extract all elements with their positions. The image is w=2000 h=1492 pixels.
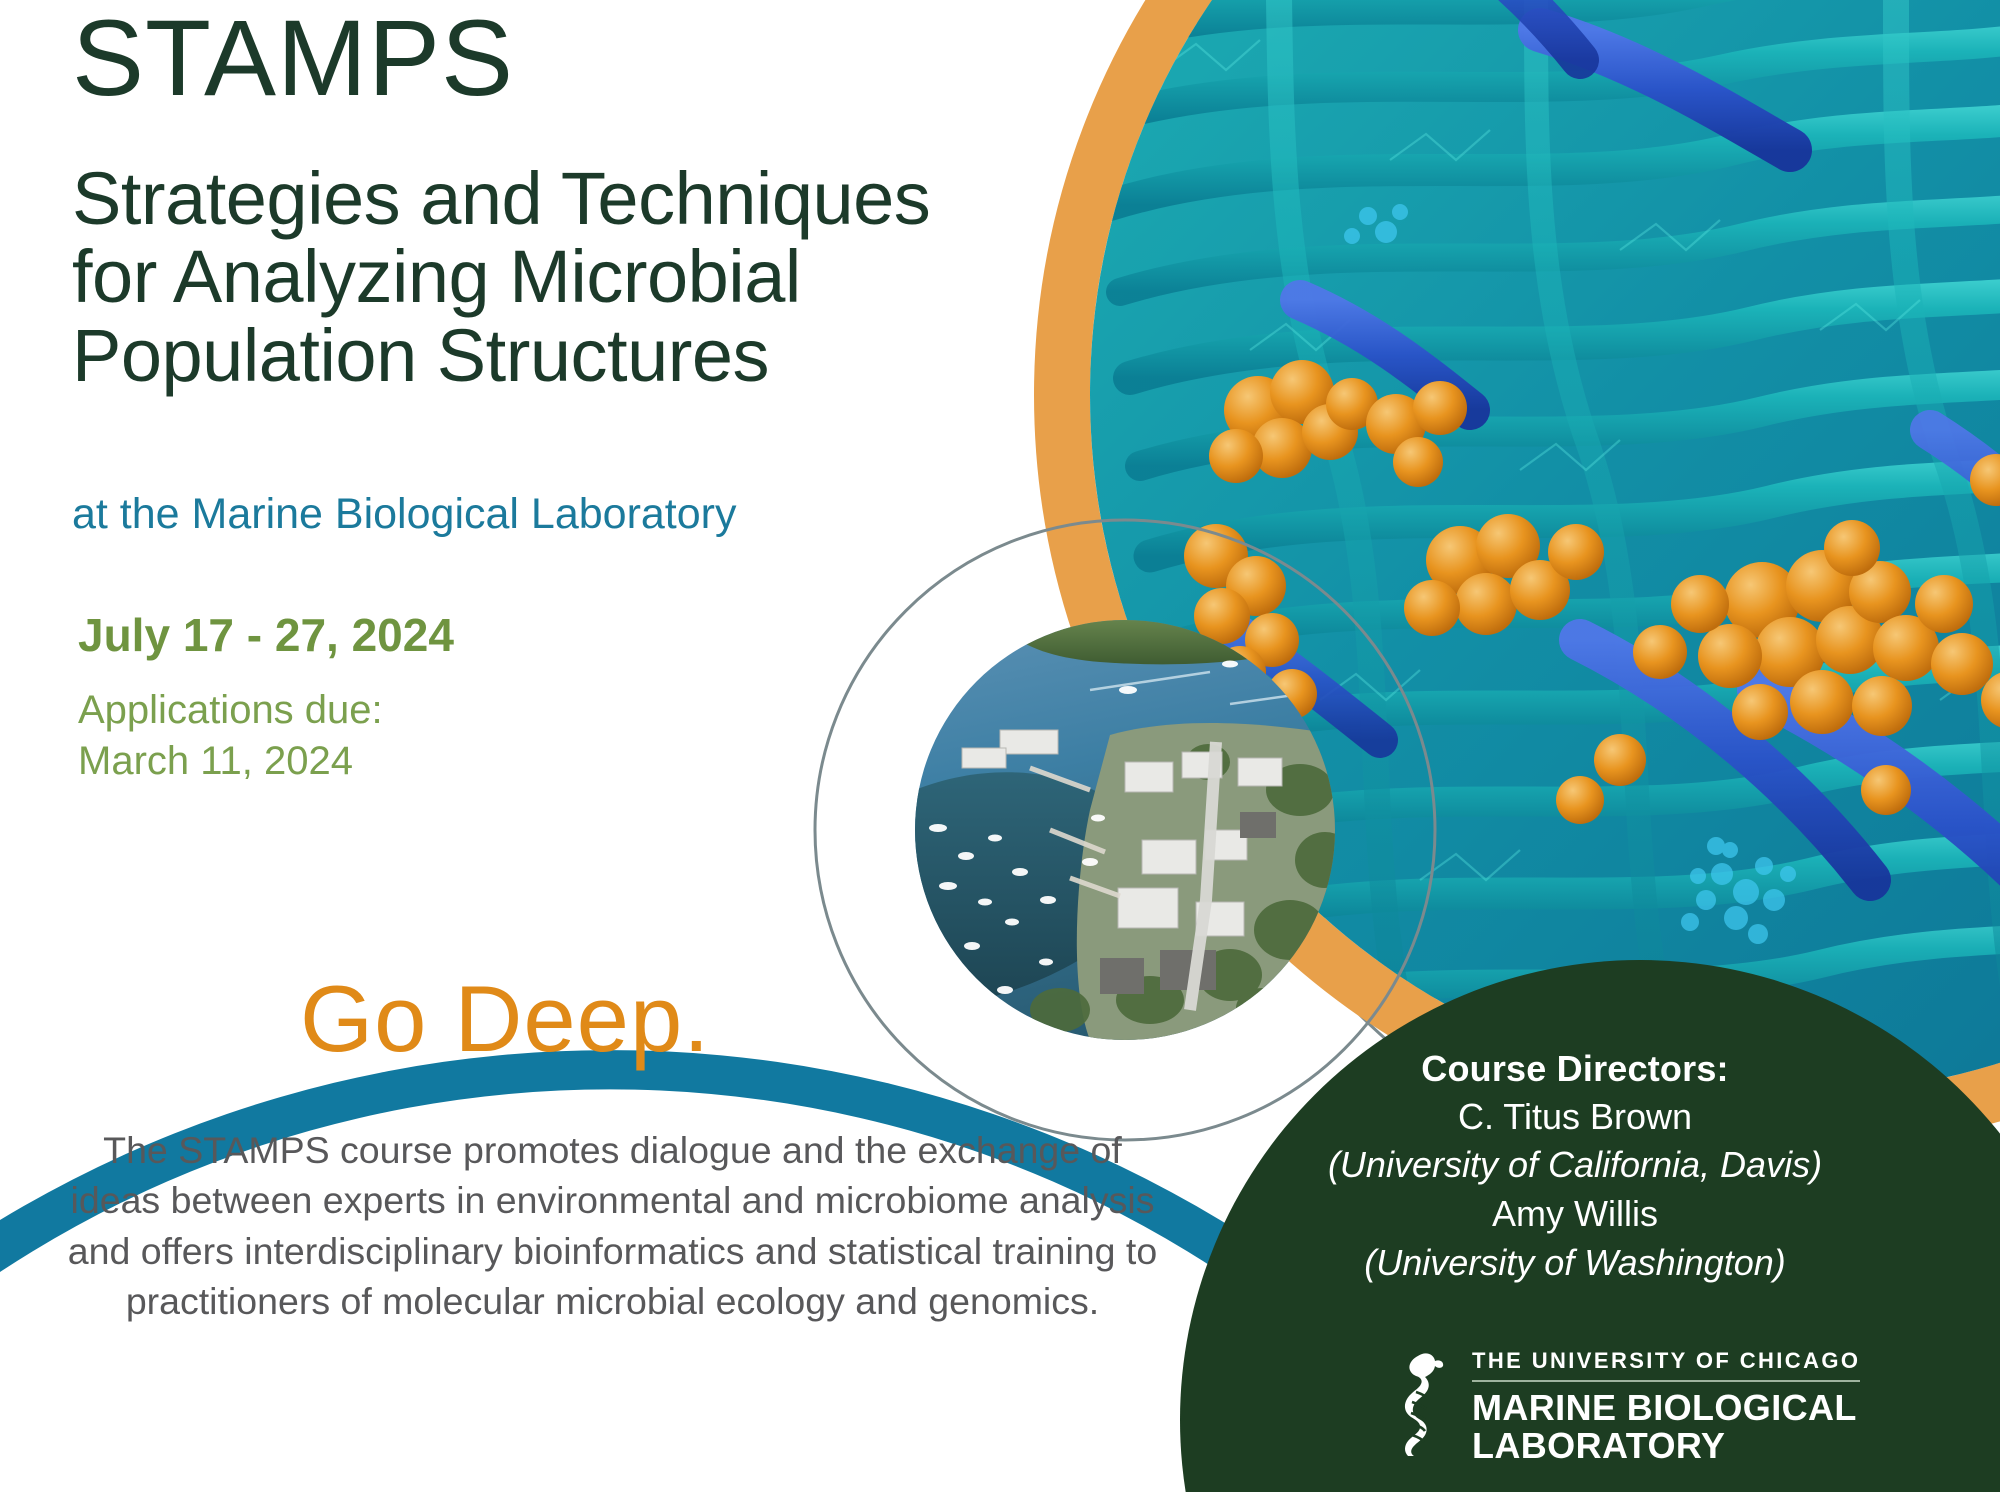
logo-name-line-1: MARINE BIOLOGICAL	[1472, 1389, 1860, 1427]
course-subtitle-line-3: Population Structures	[72, 317, 930, 395]
course-subtitle: Strategies and Techniques for Analyzing …	[72, 160, 930, 395]
logo-divider	[1472, 1380, 1860, 1382]
logo-university-line: THE UNIVERSITY OF CHICAGO	[1472, 1348, 1860, 1380]
course-subtitle-line-2: for Analyzing Microbial	[72, 238, 930, 316]
poster-canvas: STAMPS Strategies and Techniques for Ana…	[0, 0, 2000, 1492]
course-dates: July 17 - 27, 2024	[78, 608, 454, 662]
mbl-logo: THE UNIVERSITY OF CHICAGO MARINE BIOLOGI…	[1398, 1348, 1860, 1465]
application-deadline-label: Applications due:	[78, 685, 383, 736]
course-directors-block: Course Directors: C. Titus Brown (Univer…	[1230, 1045, 1920, 1287]
course-subtitle-line-1: Strategies and Techniques	[72, 160, 930, 238]
director-affiliation-1: (University of California, Davis)	[1230, 1141, 1920, 1190]
seahorse-dna-icon	[1398, 1352, 1450, 1461]
mbl-wordmark: THE UNIVERSITY OF CHICAGO MARINE BIOLOGI…	[1472, 1348, 1860, 1465]
director-name-2: Amy Willis	[1230, 1190, 1920, 1239]
course-directors-heading: Course Directors:	[1230, 1045, 1920, 1093]
logo-name-line-2: LABORATORY	[1472, 1427, 1860, 1465]
tagline: Go Deep.	[300, 965, 710, 1073]
director-affiliation-2: (University of Washington)	[1230, 1239, 1920, 1288]
director-name-1: C. Titus Brown	[1230, 1093, 1920, 1142]
page-title: STAMPS	[72, 4, 514, 112]
course-description: The STAMPS course promotes dialogue and …	[60, 1125, 1165, 1326]
application-deadline-date: March 11, 2024	[78, 736, 383, 787]
venue-label: at the Marine Biological Laboratory	[72, 490, 736, 539]
application-deadline: Applications due: March 11, 2024	[78, 685, 383, 787]
